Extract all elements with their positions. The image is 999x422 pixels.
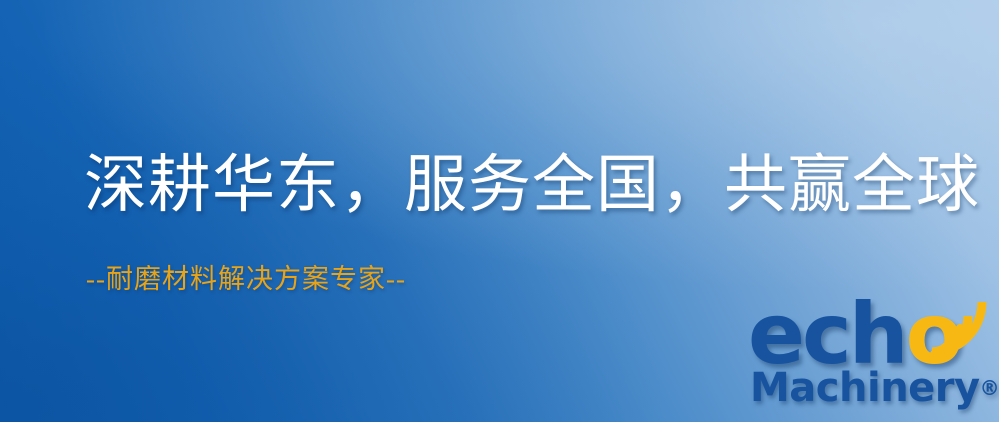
echo-machinery-logo: echo Machinery® (744, 292, 999, 422)
banner-subtitle: --耐磨材料解决方案专家-- (86, 266, 406, 293)
logo-tagline-text: Machinery (750, 365, 980, 411)
registered-trademark-icon: ® (980, 376, 999, 400)
promotional-banner: 深耕华东，服务全国，共赢全球 --耐磨材料解决方案专家-- echo Machi… (0, 0, 999, 422)
banner-headline: 深耕华东，服务全国，共赢全球 (84, 154, 980, 217)
logo-tagline: Machinery® (750, 368, 999, 408)
wifi-signal-arcs-icon (926, 292, 999, 358)
